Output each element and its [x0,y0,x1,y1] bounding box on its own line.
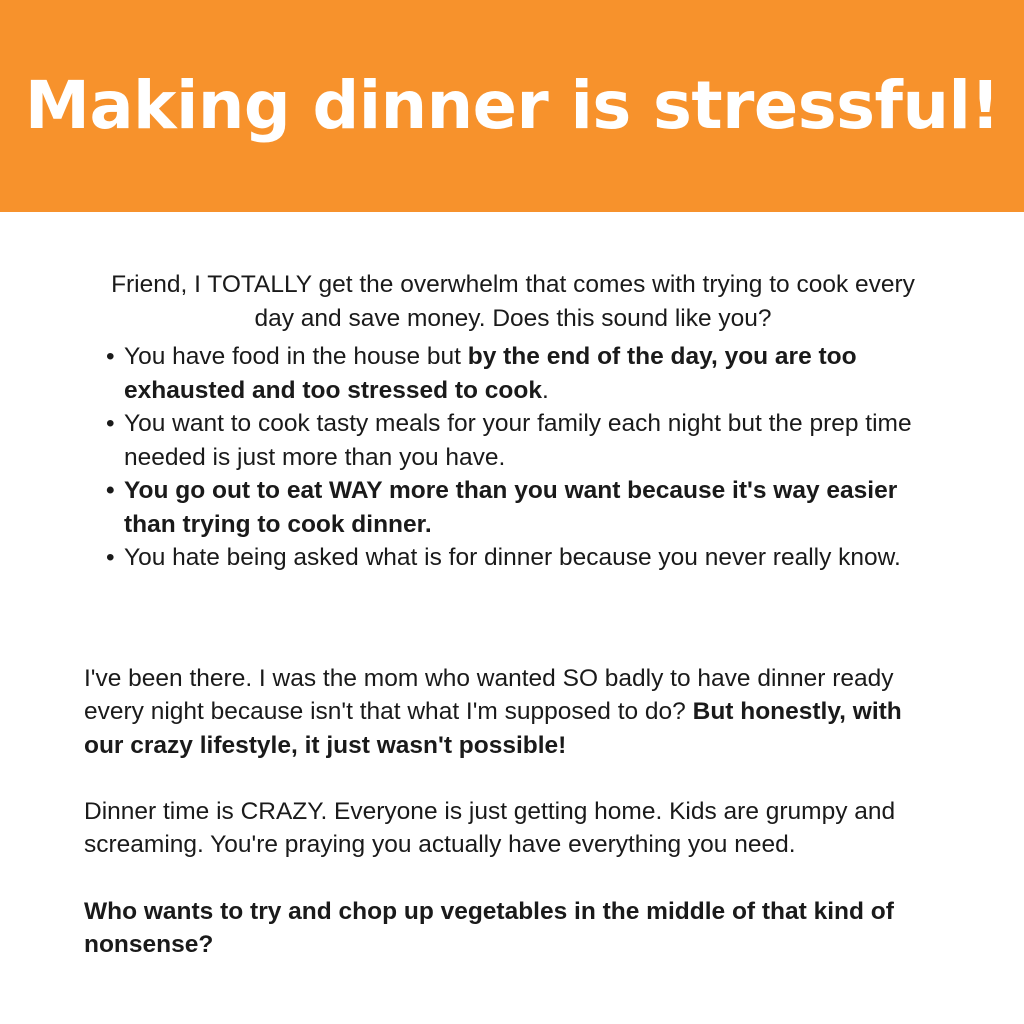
text-run-regular: Dinner time is CRAZY. Everyone is just g… [84,798,895,859]
text-run-regular: You have food in the house but [124,343,468,370]
bullet-marker-icon: • [106,340,115,374]
page-title: Making dinner is stressful! [25,73,1000,139]
bullet-prep-time: • You want to cook tasty meals for your … [84,407,954,474]
paragraph-who-wants-to-chop: Who wants to try and chop up vegetables … [84,895,946,962]
bullet-marker-icon: • [106,541,115,575]
bullet-text: You want to cook tasty meals for your fa… [124,410,912,471]
graphic-page: Making dinner is stressful! Friend, I TO… [0,0,1024,1024]
header-banner: Making dinner is stressful! [0,0,1024,212]
bullet-text: You hate being asked what is for dinner … [124,544,901,571]
bullet-text: You have food in the house but by the en… [124,343,857,404]
pain-point-list: •You have food in the house but by the e… [84,340,954,575]
text-run-bold: Who wants to try and chop up vegetables … [84,898,894,959]
text-run-regular: You hate being asked what is for dinner … [124,544,901,571]
text-run-regular: . [542,377,549,404]
bullet-too-exhausted: •You have food in the house but by the e… [84,340,954,407]
paragraph-dinner-time-crazy: Dinner time is CRAZY. Everyone is just g… [84,795,946,862]
body-content: Friend, I TOTALLY get the overwhelm that… [0,212,1024,1024]
text-run-regular: You want to cook tasty meals for your fa… [124,410,912,471]
paragraph-been-there: I've been there. I was the mom who wante… [84,662,946,763]
intro-paragraph: Friend, I TOTALLY get the overwhelm that… [104,268,922,336]
text-run-bold: You go out to eat WAY more than you want… [124,477,897,538]
bullet-marker-icon: • [106,407,115,441]
bullet-whats-for-dinner: •You hate being asked what is for dinner… [84,541,954,575]
bullet-marker-icon: • [106,474,115,508]
bullet-eat-out: •You go out to eat WAY more than you wan… [84,474,954,541]
bullet-text: You go out to eat WAY more than you want… [124,477,897,538]
